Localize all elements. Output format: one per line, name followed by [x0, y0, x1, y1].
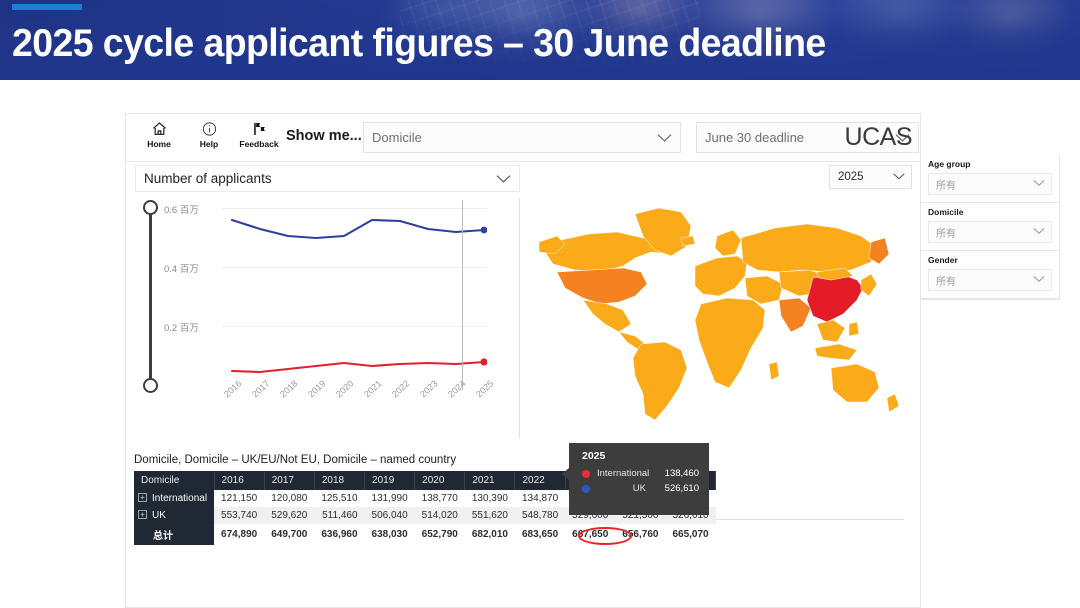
chart-plot-area [222, 198, 487, 386]
chevron-down-icon [1033, 275, 1045, 286]
table-cell: 120,080 [264, 490, 314, 507]
table-cell: 506,040 [365, 507, 415, 524]
x-axis: 2016 2017 2018 2019 2020 2021 2022 2023 … [214, 388, 514, 430]
table-cell: 514,020 [415, 507, 465, 524]
filter-select-value: 所有 [936, 225, 956, 240]
y-axis-tick-label: 0.2 百万 [164, 320, 199, 334]
chevron-down-icon [657, 130, 672, 145]
filter-label: Domicile [928, 207, 1052, 217]
dashboard-toolbar: Home Help [126, 114, 920, 162]
filter-select-value: 所有 [936, 273, 956, 288]
slider-handle-upper[interactable] [143, 200, 158, 215]
table-cell: 548,780 [515, 507, 565, 524]
accent-bar [12, 4, 82, 10]
tooltip-row-label: UK [597, 483, 655, 494]
year-select[interactable]: 2025 [829, 165, 912, 189]
table-cell: 652,790 [415, 524, 465, 545]
map-country-southamerica [633, 342, 687, 420]
filter-label: Gender [928, 255, 1052, 265]
chevron-down-icon [893, 171, 905, 183]
tooltip-title: 2025 [582, 450, 699, 462]
data-table-section: Domicile, Domicile – UK/EU/Not EU, Domic… [134, 454, 914, 550]
table-cell: 121,150 [214, 490, 264, 507]
map-country-philippines [849, 322, 859, 336]
feedback-flag-icon [234, 121, 284, 137]
table-cell: 553,740 [214, 507, 264, 524]
map-country-scandinavia [715, 230, 741, 256]
filter-select-age-group[interactable]: 所有 [928, 173, 1052, 195]
map-country-madagascar [769, 362, 779, 380]
table-row: 总计 674,890 649,700 636,960 638,030 652,7… [134, 524, 716, 545]
legend-dot-international [582, 470, 590, 478]
chart-cursor-line [462, 200, 463, 390]
table-cell: 649,700 [264, 524, 314, 545]
map-country-iceland [681, 236, 695, 246]
y-axis-tick-label: 0.6 百万 [164, 202, 199, 216]
filter-label: Age group [928, 159, 1052, 169]
y-axis-tick-label: 0.4 百万 [164, 261, 199, 275]
ucas-logo: UCAS [845, 123, 912, 152]
home-button-label: Home [134, 139, 184, 149]
filter-group-age: Age group 所有 [921, 155, 1059, 203]
table-cell: 636,960 [314, 524, 364, 545]
table-col-header: 2016 [214, 471, 264, 490]
table-cell: 130,390 [465, 490, 515, 507]
table-row-label: 总计 [138, 531, 173, 542]
show-me-select-value: Domicile [372, 130, 422, 145]
table-col-header: 2019 [365, 471, 415, 490]
y-range-slider[interactable] [141, 200, 159, 393]
series-marker-international [480, 358, 487, 365]
table-caption: Domicile, Domicile – UK/EU/Not EU, Domic… [134, 454, 914, 466]
help-button[interactable]: Help [184, 118, 234, 149]
legend-dot-uk [582, 485, 590, 493]
table-cell: 682,010 [465, 524, 515, 545]
home-button[interactable]: Home [134, 118, 184, 149]
map-country-russia [741, 224, 875, 272]
home-icon [134, 121, 184, 137]
series-line-uk [232, 220, 484, 238]
vertical-divider [519, 198, 520, 438]
chevron-down-icon [496, 171, 511, 186]
table-col-header: 2021 [465, 471, 515, 490]
info-circle-icon [184, 121, 234, 137]
table-corner-header: Domicile [134, 471, 214, 490]
map-country-usa [557, 268, 647, 304]
tooltip-row-international: International 138,460 [582, 468, 699, 479]
table-cell: 551,620 [465, 507, 515, 524]
map-country-kamchatka [869, 238, 889, 264]
filter-group-domicile: Domicile 所有 [921, 203, 1059, 251]
table-cell: 529,620 [264, 507, 314, 524]
visualisation-area: 0.6 百万 0.4 百万 0.2 百万 2016 2017 2018 2019 [126, 190, 920, 465]
table-cell: 511,460 [314, 507, 364, 524]
tooltip-row-value: 526,610 [655, 483, 699, 494]
show-me-label: Show me... [286, 128, 362, 144]
measure-row: Number of applicants 2025 [126, 162, 920, 190]
measure-select[interactable]: Number of applicants [135, 165, 520, 192]
feedback-button-label: Feedback [234, 139, 284, 149]
table-col-header: 2017 [264, 471, 314, 490]
deadline-select-value: June 30 deadline [705, 130, 804, 145]
table-cell: 131,990 [365, 490, 415, 507]
tooltip-row-uk: UK 526,610 [582, 483, 699, 494]
table-cell: 667,650 [565, 524, 615, 545]
table-row-header[interactable]: +UK [134, 507, 214, 524]
expand-icon[interactable]: + [138, 493, 147, 502]
map-country-indonesia [815, 344, 857, 360]
feedback-button[interactable]: Feedback [234, 118, 284, 149]
map-country-southeastasia [817, 320, 845, 342]
map-country-newzealand [887, 394, 899, 412]
chevron-down-icon [1033, 227, 1045, 238]
filter-panel: Age group 所有 Domicile 所有 Gender 所有 [920, 155, 1060, 300]
table-cell: 683,650 [515, 524, 565, 545]
map-country-europe [695, 256, 747, 296]
expand-icon[interactable]: + [138, 510, 147, 519]
table-row-label: International [152, 493, 207, 504]
series-line-international [232, 362, 484, 372]
map-country-korea-japan [861, 274, 877, 296]
year-select-value: 2025 [838, 171, 864, 183]
slider-handle-lower[interactable] [143, 378, 158, 393]
map-country-africa [695, 298, 765, 388]
page-title: 2025 cycle applicant figures – 30 June d… [12, 22, 826, 66]
toolbar-button-group: Home Help [134, 118, 284, 149]
table-cell: 674,890 [214, 524, 264, 545]
table-cell: 125,510 [314, 490, 364, 507]
table-cell: 134,870 [515, 490, 565, 507]
table-row-label: UK [152, 510, 166, 521]
page-banner: 2025 cycle applicant figures – 30 June d… [0, 0, 1080, 80]
filter-group-gender: Gender 所有 [921, 251, 1059, 299]
slider-track [149, 208, 152, 386]
dashboard-panel: Home Help [125, 113, 920, 608]
tooltip-row-label: International [597, 468, 658, 479]
map-country-china [807, 274, 863, 322]
table-col-header: 2018 [314, 471, 364, 490]
table-cell: 638,030 [365, 524, 415, 545]
table-col-header: 2020 [415, 471, 465, 490]
table-col-header: 2022 [515, 471, 565, 490]
world-map[interactable] [531, 192, 911, 442]
show-me-select[interactable]: Domicile [363, 122, 681, 153]
map-country-mexico [583, 300, 631, 332]
table-cell: 138,770 [415, 490, 465, 507]
tooltip-pointer [562, 467, 570, 481]
map-country-india [779, 298, 811, 332]
chevron-down-icon [1033, 179, 1045, 190]
chart-tooltip: 2025 International 138,460 UK 526,610 [569, 443, 709, 515]
tooltip-row-value: 138,460 [658, 468, 699, 479]
table-cell: 656,760 [615, 524, 665, 545]
line-chart: 0.6 百万 0.4 百万 0.2 百万 2016 2017 2018 2019 [162, 198, 512, 438]
measure-select-value: Number of applicants [144, 171, 272, 186]
help-button-label: Help [184, 139, 234, 149]
filter-select-gender[interactable]: 所有 [928, 269, 1052, 291]
table-row-header: 总计 [134, 524, 214, 545]
filter-select-value: 所有 [936, 177, 956, 192]
table-cell: 665,070 [665, 524, 715, 545]
map-country-australia [831, 364, 879, 402]
series-marker-uk [481, 227, 487, 234]
table-row-header[interactable]: +International [134, 490, 214, 507]
filter-select-domicile[interactable]: 所有 [928, 221, 1052, 243]
